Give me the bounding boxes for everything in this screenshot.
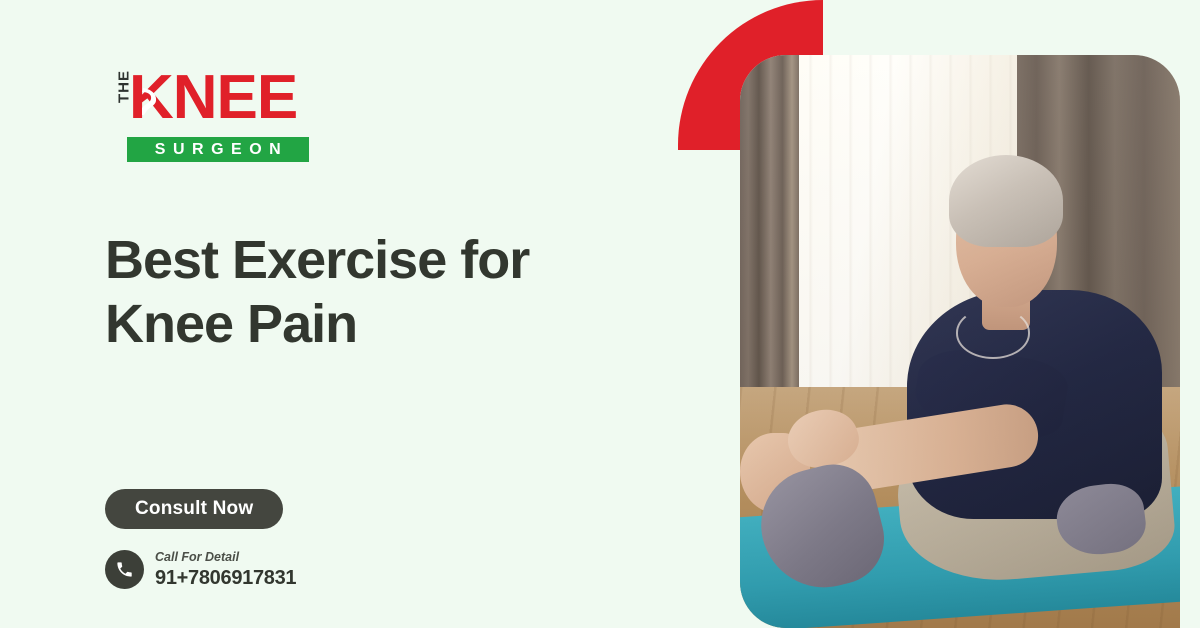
- consult-now-button[interactable]: Consult Now: [105, 489, 283, 529]
- phone-number[interactable]: 91+7806917831: [155, 568, 296, 588]
- contact-block[interactable]: Call For Detail 91+7806917831: [105, 550, 296, 589]
- contact-text: Call For Detail 91+7806917831: [155, 551, 296, 588]
- logo-surgeon-text: SURGEON: [127, 137, 309, 162]
- promo-banner: THE KNEE SURGEON Best Exercise for Knee …: [0, 0, 1200, 628]
- headline-line-2: Knee Pain: [105, 294, 357, 354]
- hero-photo: [740, 55, 1180, 628]
- phone-handset-glyph: [115, 560, 134, 579]
- call-for-detail-label: Call For Detail: [155, 551, 296, 564]
- photo-scene: [740, 55, 1180, 628]
- photo-color-grade: [740, 55, 1180, 628]
- headline-line-1: Best Exercise for: [105, 230, 529, 290]
- logo-knee-text: KNEE: [129, 64, 297, 132]
- brand-logo[interactable]: THE KNEE SURGEON: [105, 64, 305, 164]
- content-column: THE KNEE SURGEON Best Exercise for Knee …: [105, 0, 665, 628]
- page-title: Best Exercise for Knee Pain: [105, 228, 665, 356]
- phone-icon[interactable]: [105, 550, 144, 589]
